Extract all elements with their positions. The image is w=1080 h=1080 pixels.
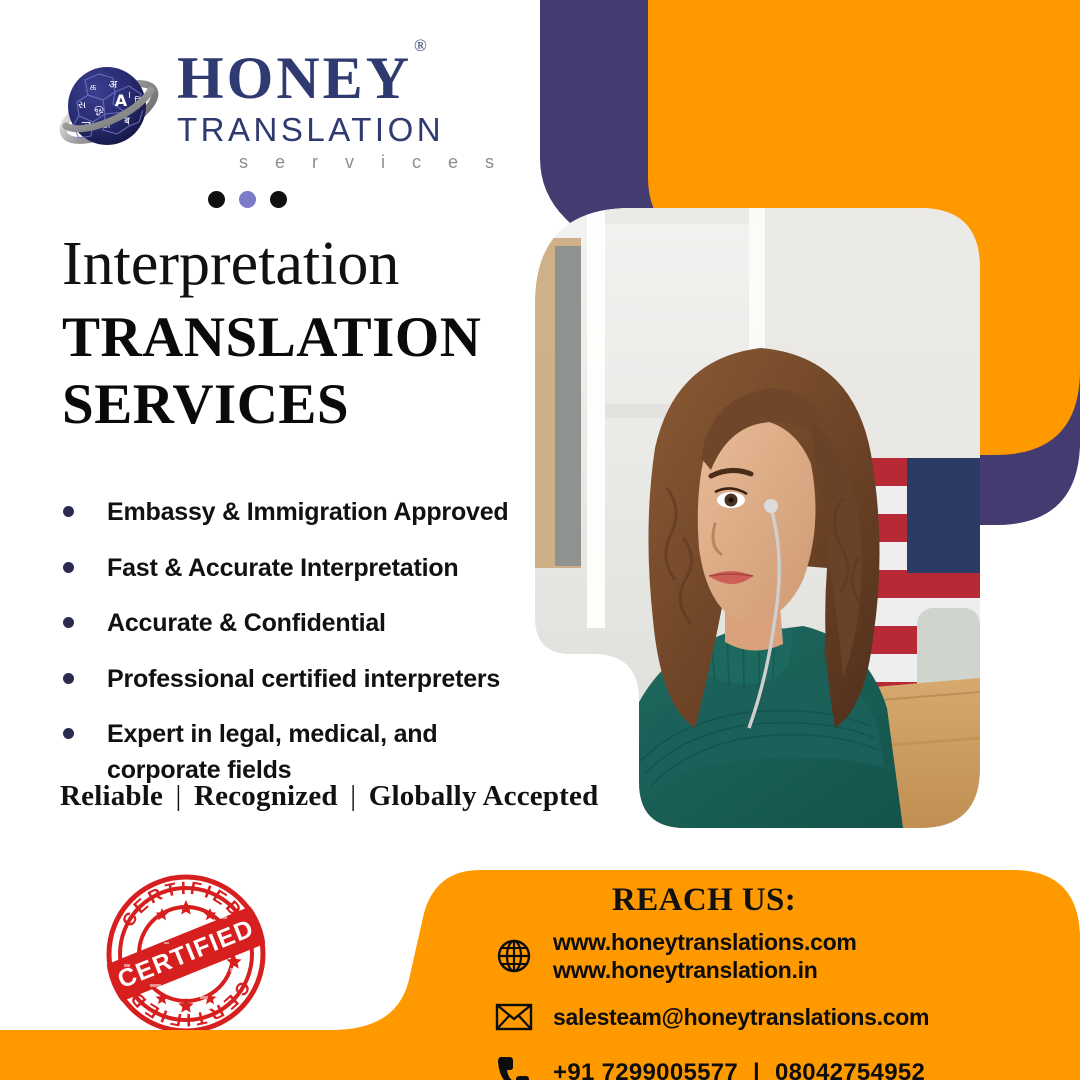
list-item: Accurate & Confidential: [55, 606, 525, 642]
bullet-dot-icon: [63, 617, 74, 628]
phone-icon: [493, 1052, 535, 1080]
poster-canvas: க अ । સ ஓ A हि ア எ ब HONEY® TRANSLATION …: [0, 0, 1080, 1080]
bullet-dot-icon: [63, 506, 74, 517]
svg-text:A: A: [115, 91, 128, 110]
list-item: Embassy & Immigration Approved: [55, 495, 525, 531]
svg-text:अ: अ: [109, 78, 118, 91]
globe-languages-icon: க अ । સ ஓ A हि ア எ ब: [55, 56, 163, 164]
phone-values: +91 7299005577 | 08042754952: [553, 1058, 925, 1080]
envelope-icon: [493, 996, 535, 1038]
svg-text:க: க: [89, 80, 96, 93]
phone-separator: |: [745, 1059, 768, 1080]
tagline-separator: |: [345, 780, 361, 812]
list-item-label: Accurate & Confidential: [107, 606, 386, 642]
contact-row-email[interactable]: salesteam@honeytranslations.com: [493, 996, 1053, 1038]
dot-1: [208, 191, 225, 208]
website-1[interactable]: www.honeytranslations.com: [553, 928, 856, 956]
phone-1[interactable]: +91 7299005577: [553, 1059, 738, 1080]
logo-services-line: s e r v i c e s: [239, 153, 505, 171]
list-item: Fast & Accurate Interpretation: [55, 551, 525, 587]
brand-logo[interactable]: க अ । સ ஓ A हि ア எ ब HONEY® TRANSLATION …: [55, 48, 505, 171]
dot-2: [239, 191, 256, 208]
email-value[interactable]: salesteam@honeytranslations.com: [553, 1003, 929, 1031]
tagline-part-3: Globally Accepted: [369, 780, 599, 812]
globe-icon: [493, 935, 535, 977]
headline-bold-2: SERVICES: [62, 372, 522, 439]
svg-text:।: ।: [127, 90, 131, 101]
tagline-part-2: Recognized: [194, 780, 338, 812]
phone-2[interactable]: 08042754952: [775, 1059, 925, 1080]
bullet-dot-icon: [63, 673, 74, 684]
list-item-label: Fast & Accurate Interpretation: [107, 551, 458, 587]
tagline: Reliable | Recognized | Globally Accepte…: [60, 780, 598, 813]
list-item: Expert in legal, medical, and corporate …: [55, 717, 525, 788]
dot-separator: [208, 191, 287, 208]
logo-wordmark: HONEY®: [177, 48, 505, 108]
feature-list: Embassy & Immigration Approved Fast & Ac…: [55, 495, 525, 808]
tagline-separator: |: [171, 780, 187, 812]
list-item: Professional certified interpreters: [55, 662, 525, 698]
website-2[interactable]: www.honeytranslation.in: [553, 956, 856, 984]
certified-stamp: CERTIFIED CERTIFIED: [104, 872, 268, 1036]
headline-bold-1: TRANSLATION: [62, 305, 522, 372]
list-item-label: Expert in legal, medical, and corporate …: [107, 717, 467, 788]
list-item-label: Professional certified interpreters: [107, 662, 500, 698]
website-values: www.honeytranslations.com www.honeytrans…: [553, 928, 856, 984]
dot-3: [270, 191, 287, 208]
headline-script: Interpretation: [62, 232, 522, 297]
contact-row-phone[interactable]: +91 7299005577 | 08042754952: [493, 1052, 1053, 1080]
reach-us-title: REACH US:: [612, 882, 796, 919]
headline-block: Interpretation TRANSLATION SERVICES: [62, 232, 522, 438]
svg-text:ஓ: ஓ: [94, 101, 104, 115]
bullet-dot-icon: [63, 728, 74, 739]
contact-details: www.honeytranslations.com www.honeytrans…: [493, 928, 1053, 1080]
svg-text:સ: સ: [78, 100, 86, 111]
bullet-dot-icon: [63, 562, 74, 573]
list-item-label: Embassy & Immigration Approved: [107, 495, 509, 531]
registered-mark: ®: [414, 36, 430, 55]
hero-photo: [535, 208, 980, 828]
tagline-part-1: Reliable: [60, 780, 163, 812]
contact-row-website[interactable]: www.honeytranslations.com www.honeytrans…: [493, 928, 1053, 984]
logo-translation-line: TRANSLATION: [177, 113, 505, 146]
